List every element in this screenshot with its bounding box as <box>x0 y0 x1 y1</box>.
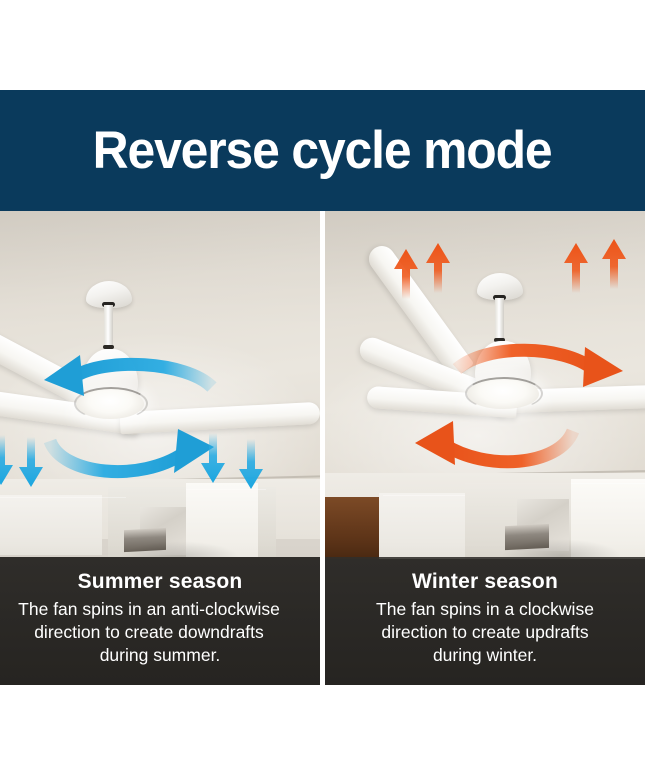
page-title: Reverse cycle mode <box>93 124 552 177</box>
panel-winter: Winter season The fan spins in a clockwi… <box>325 211 645 685</box>
fan-downrod <box>495 298 504 342</box>
fan-downrod <box>104 305 113 349</box>
caption-line-2: direction to create downdrafts <box>0 621 320 644</box>
caption-line-3: during winter. <box>325 644 645 667</box>
cabinet-left <box>0 495 102 555</box>
product-feature-graphic: Reverse cycle mode <box>0 0 645 774</box>
airflow-arrow-down <box>238 439 264 491</box>
airflow-arrow-down <box>200 433 226 485</box>
airflow-arrow-down <box>0 435 14 487</box>
caption-winter: Winter season The fan spins in a clockwi… <box>325 557 645 685</box>
caption-line-3: during summer. <box>0 644 320 667</box>
caption-title: Summer season <box>0 569 320 594</box>
cabinet-edge-line <box>571 483 645 484</box>
panel-summer: Summer season The fan spins in an anti-c… <box>0 211 320 685</box>
caption-summer: Summer season The fan spins in an anti-c… <box>0 557 320 685</box>
airflow-arrow-up <box>393 247 419 299</box>
airflow-arrow-up <box>425 241 451 293</box>
airflow-arrow-up <box>601 237 627 289</box>
airflow-arrow-down <box>18 437 44 489</box>
airflow-arrow-up <box>563 241 589 293</box>
caption-line-2: direction to create updrafts <box>325 621 645 644</box>
title-banner: Reverse cycle mode <box>0 90 645 211</box>
comparison-panels: Summer season The fan spins in an anti-c… <box>0 211 645 685</box>
cabinet-left <box>379 493 465 563</box>
rotation-arrow-bottom-winter <box>393 395 583 475</box>
caption-title: Winter season <box>325 569 645 594</box>
cabinet-edge-line <box>0 497 126 498</box>
cabinet-edge-line <box>383 495 465 496</box>
caption-line-1: The fan spins in an anti-clockwise <box>0 598 320 621</box>
caption-line-1: The fan spins in a clockwise <box>325 598 645 621</box>
